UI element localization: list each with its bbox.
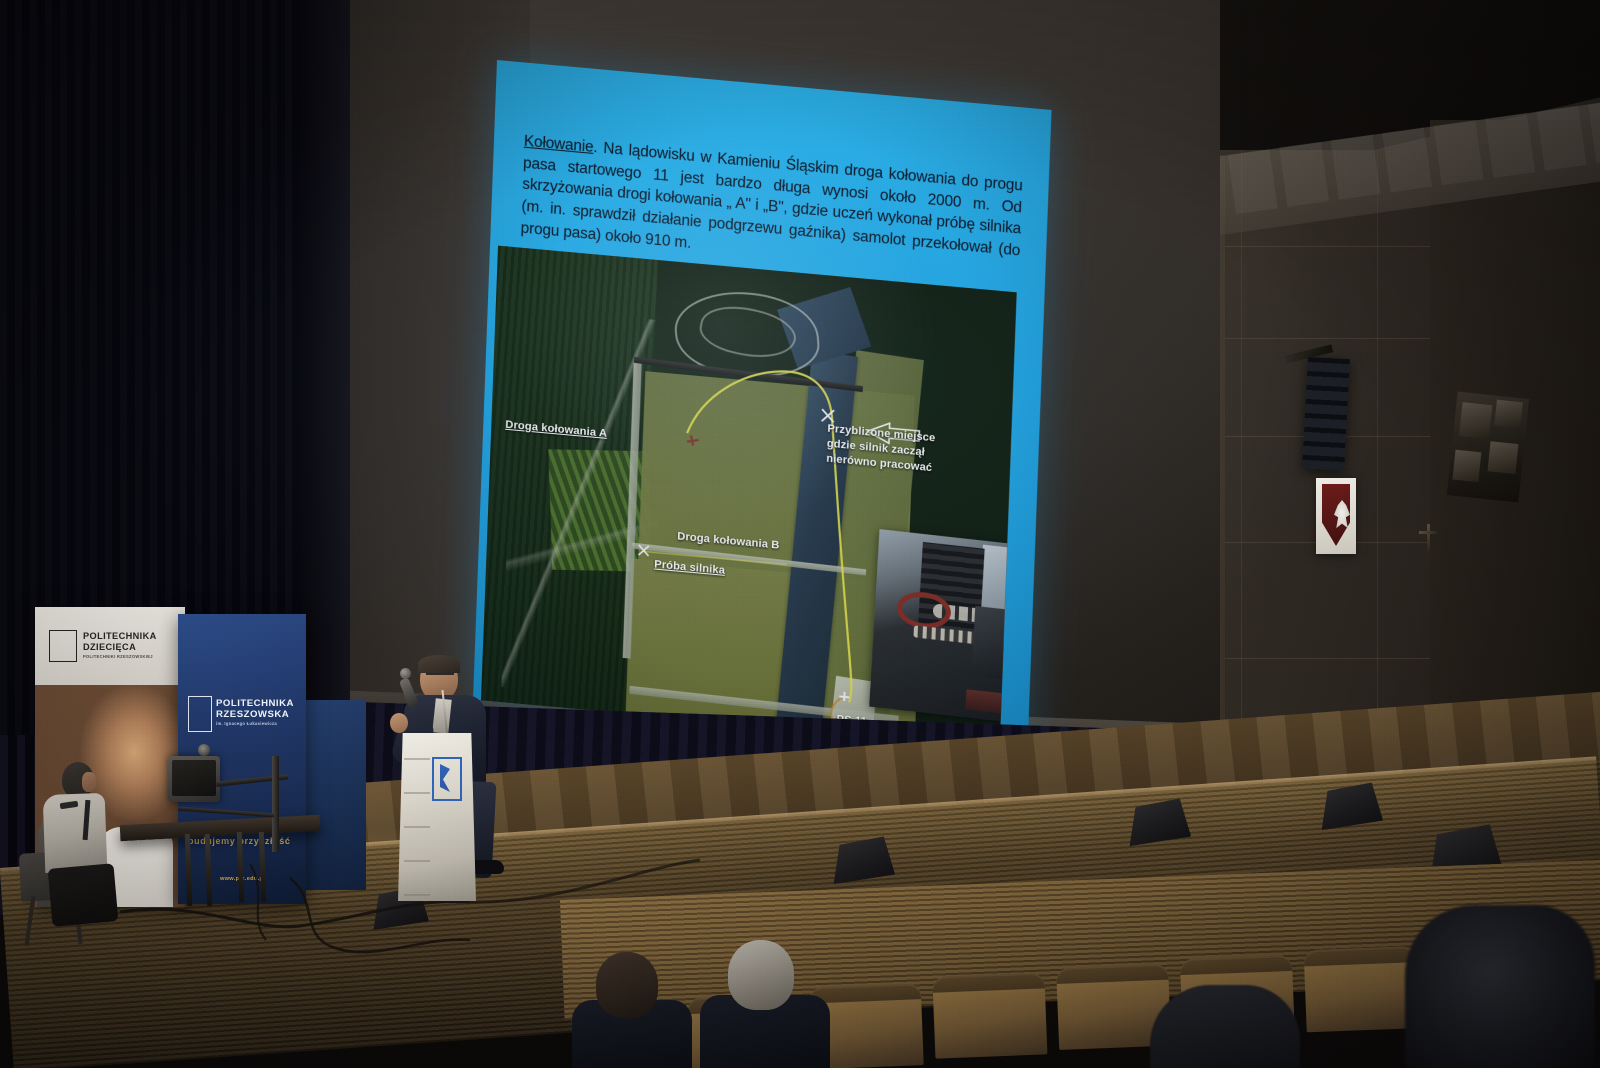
audience-member-foreground xyxy=(1150,985,1300,1068)
presenter-hand xyxy=(390,713,408,733)
presenter-glasses-icon xyxy=(426,673,454,681)
audience-member-foreground-right xyxy=(1405,905,1595,1068)
camera-monitor xyxy=(168,756,220,802)
presenter-hair xyxy=(418,655,460,673)
prz-line3: im. Ignacego Łukasiewicza xyxy=(216,721,277,726)
crucifix-icon xyxy=(1427,524,1430,552)
pd-logo-mark-icon xyxy=(49,630,77,662)
eagle-shield xyxy=(1322,484,1350,546)
pd-logo: POLITECHNIKA DZIECIĘCA POLITECHNIKI RZES… xyxy=(49,629,169,669)
pd-line1: POLITECHNIKA xyxy=(83,631,157,641)
slide-body: . Na lądowisku w Kamieniu Śląskim droga … xyxy=(520,139,1023,260)
audience-member-head xyxy=(728,940,794,1010)
camera-monitor-screen xyxy=(172,760,216,796)
camera-rig xyxy=(160,738,300,848)
prz-line2: RZESZOWSKA xyxy=(216,709,289,720)
line-array-speaker-icon xyxy=(1302,357,1350,471)
curtain-edge xyxy=(300,0,350,790)
cockpit-red-area xyxy=(965,689,1010,714)
cockpit-photo xyxy=(869,529,1016,723)
presentation-slide: Kołowanie. Na lądowisku w Kamieniu Śląsk… xyxy=(473,60,1052,750)
lectern-side-rails xyxy=(404,748,430,896)
operator-face xyxy=(82,772,96,792)
pd-line3: POLITECHNIKI RZESZOWSKIEJ xyxy=(83,654,153,659)
auditorium-seat[interactable] xyxy=(1304,946,1419,1032)
pd-line2: DZIECIĘCA xyxy=(83,642,136,652)
camera-lens-icon xyxy=(198,744,210,756)
wall-light-fixture xyxy=(1447,392,1529,503)
rig-arm xyxy=(178,807,274,818)
slide-heading: Kołowanie xyxy=(524,133,594,156)
crucifix-icon-bar xyxy=(1419,531,1438,534)
politechnika-rzeszowska-logo xyxy=(432,757,462,801)
projected-slide-wrapper: Kołowanie. Na lądowisku w Kamieniu Śląsk… xyxy=(472,60,1057,770)
auditorium-scene: Kołowanie. Na lądowisku w Kamieniu Śląsk… xyxy=(0,0,1600,1068)
aerial-photo-airfield: Droga kołowania A Droga kołowania B Prób… xyxy=(481,246,1017,747)
prz-line1: POLITECHNIKA xyxy=(216,698,294,709)
polish-eagle-emblem xyxy=(1316,478,1356,554)
prz-logo-mark-icon xyxy=(188,696,212,732)
cockpit-seat xyxy=(971,606,1015,680)
rig-post xyxy=(272,756,279,852)
auditorium-seat[interactable] xyxy=(932,972,1047,1058)
audience-member-head xyxy=(596,952,658,1018)
eagle-bird-icon xyxy=(1334,500,1350,532)
